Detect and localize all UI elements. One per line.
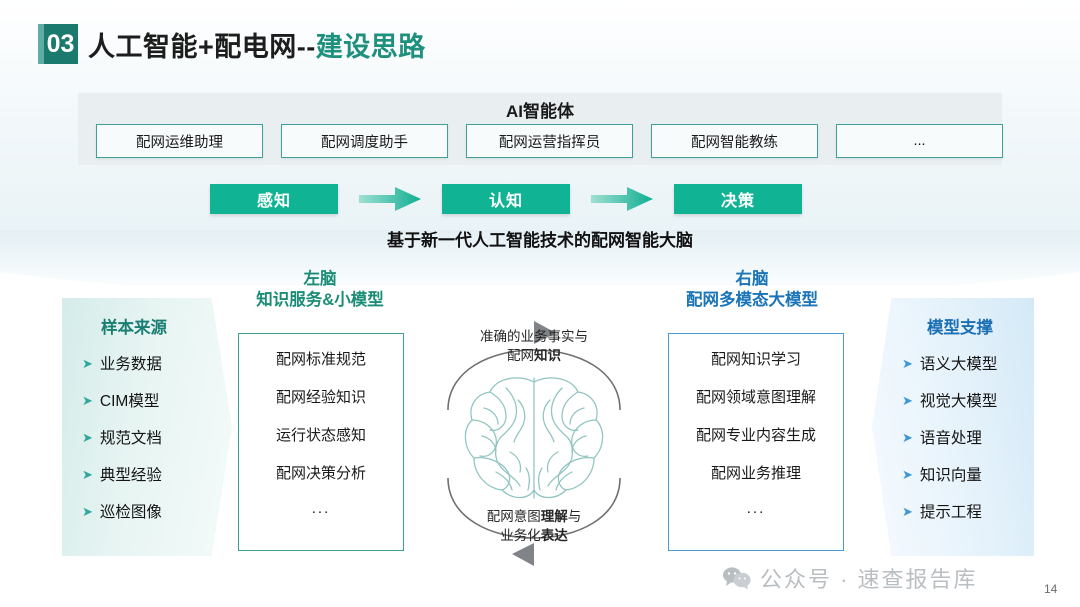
left-brain-item: 运行状态感知 [276,424,366,445]
arrow-bullet-icon: ➤ [902,357,913,370]
section-number: 03 [42,32,75,57]
page-title: 03 人工智能+配电网--建设思路 [38,24,426,64]
wechat-icon [722,566,752,590]
page-title-text: 人工智能+配电网--建设思路 [88,25,426,64]
page-title-main: 人工智能+配电网-- [88,32,316,62]
right-brain-heading-line2: 配网多模态大模型 [652,290,852,311]
list-item[interactable]: ➤视觉大模型 [872,389,1034,411]
list-item-label: CIM模型 [100,389,159,411]
arrow-bullet-icon: ➤ [902,394,913,407]
chain-arrow-icon [338,184,442,214]
list-item-label: 巡检图像 [100,500,162,522]
right-brain-heading: 右脑 配网多模态大模型 [652,269,852,311]
cycle-top-line1: 准确的业务事实与 [438,328,630,347]
right-brain-item-more: ... [747,500,766,517]
cycle-bottom-line2: 业务化表达 [438,527,630,546]
center-brain-cycle: 准确的业务事实与 配网知识 [438,300,630,582]
agent-box[interactable]: 配网运营指挥员 [466,124,633,158]
list-item-label: 知识向量 [920,463,982,485]
cycle-bottom-line1: 配网意图理解与 [438,508,630,527]
left-brain-heading-line2: 知识服务&小模型 [228,290,412,311]
ai-agent-panel: AI智能体 配网运维助理 配网调度助手 配网运营指挥员 配网智能教练 ... [78,93,1002,165]
left-brain-item-more: ... [312,500,331,517]
brain-icon [460,372,608,504]
arrow-bullet-icon: ➤ [82,394,93,407]
arrow-bullet-icon: ➤ [82,431,93,444]
chain-step-cognition[interactable]: 认知 [442,184,570,214]
list-item[interactable]: ➤提示工程 [872,500,1034,522]
left-brain-heading: 左脑 知识服务&小模型 [228,269,412,311]
list-item[interactable]: ➤业务数据 [62,352,232,374]
right-brain-heading-line1: 右脑 [652,269,852,290]
right-brain-item: 配网专业内容生成 [696,424,816,445]
chain-caption: 基于新一代人工智能技术的配网智能大脑 [0,226,1080,251]
page-title-accent: 建设思路 [316,32,426,62]
process-chain: 感知 认知 决策 [210,184,802,214]
agent-box[interactable]: 配网运维助理 [96,124,263,158]
list-item[interactable]: ➤知识向量 [872,463,1034,485]
chain-arrow-icon [570,184,674,214]
list-item-label: 典型经验 [100,463,162,485]
list-item[interactable]: ➤语音处理 [872,426,1034,448]
list-item[interactable]: ➤巡检图像 [62,500,232,522]
cycle-bottom-text: 配网意图理解与 业务化表达 [438,508,630,545]
arrow-bullet-icon: ➤ [82,357,93,370]
slide-root: 03 人工智能+配电网--建设思路 AI智能体 配网运维助理 配网调度助手 配网… [0,0,1080,607]
watermark: 公众号 · 速查报告库 [722,562,978,594]
left-brain-item: 配网标准规范 [276,348,366,369]
agent-box-more[interactable]: ... [836,124,1003,158]
model-support-panel: 模型支撑 ➤语义大模型 ➤视觉大模型 ➤语音处理 ➤知识向量 ➤提示工程 [872,298,1034,556]
right-brain-item: 配网领域意图理解 [696,386,816,407]
list-item-label: 规范文档 [100,426,162,448]
agent-box[interactable]: 配网智能教练 [651,124,818,158]
section-number-badge: 03 [38,24,78,64]
left-brain-item: 配网决策分析 [276,462,366,483]
model-support-list: ➤语义大模型 ➤视觉大模型 ➤语音处理 ➤知识向量 ➤提示工程 [872,338,1034,522]
list-item-label: 视觉大模型 [920,389,998,411]
chain-step-perception[interactable]: 感知 [210,184,338,214]
left-brain-heading-line1: 左脑 [228,269,412,290]
list-item-label: 语音处理 [920,426,982,448]
arrow-bullet-icon: ➤ [902,468,913,481]
list-item[interactable]: ➤典型经验 [62,463,232,485]
cycle-top-line2: 配网知识 [438,347,630,366]
sample-source-heading: 样本来源 [62,298,232,338]
agent-box[interactable]: 配网调度助手 [281,124,448,158]
right-brain-item: 配网知识学习 [711,348,801,369]
ai-agent-box-list: 配网运维助理 配网调度助手 配网运营指挥员 配网智能教练 ... [96,124,1003,158]
list-item[interactable]: ➤语义大模型 [872,352,1034,374]
watermark-text: 公众号 · 速查报告库 [760,562,978,594]
list-item-label: 语义大模型 [920,352,998,374]
arrow-bullet-icon: ➤ [82,505,93,518]
arrow-bullet-icon: ➤ [902,431,913,444]
right-brain-box: 配网知识学习 配网领域意图理解 配网专业内容生成 配网业务推理 ... [668,333,844,551]
cycle-top-text: 准确的业务事实与 配网知识 [438,328,630,365]
sample-source-list: ➤业务数据 ➤CIM模型 ➤规范文档 ➤典型经验 ➤巡检图像 [62,338,232,522]
page-number: 14 [1044,582,1057,596]
left-brain-item: 配网经验知识 [276,386,366,407]
list-item-label: 提示工程 [920,500,982,522]
sample-source-panel: 样本来源 ➤业务数据 ➤CIM模型 ➤规范文档 ➤典型经验 ➤巡检图像 [62,298,232,556]
arrow-bullet-icon: ➤ [902,505,913,518]
list-item[interactable]: ➤规范文档 [62,426,232,448]
arrow-bullet-icon: ➤ [82,468,93,481]
model-support-heading: 模型支撑 [872,298,1034,338]
list-item-label: 业务数据 [100,352,162,374]
left-brain-box: 配网标准规范 配网经验知识 运行状态感知 配网决策分析 ... [238,333,404,551]
right-brain-item: 配网业务推理 [711,462,801,483]
list-item[interactable]: ➤CIM模型 [62,389,232,411]
chain-step-decision[interactable]: 决策 [674,184,802,214]
ai-agent-title: AI智能体 [78,97,1002,122]
